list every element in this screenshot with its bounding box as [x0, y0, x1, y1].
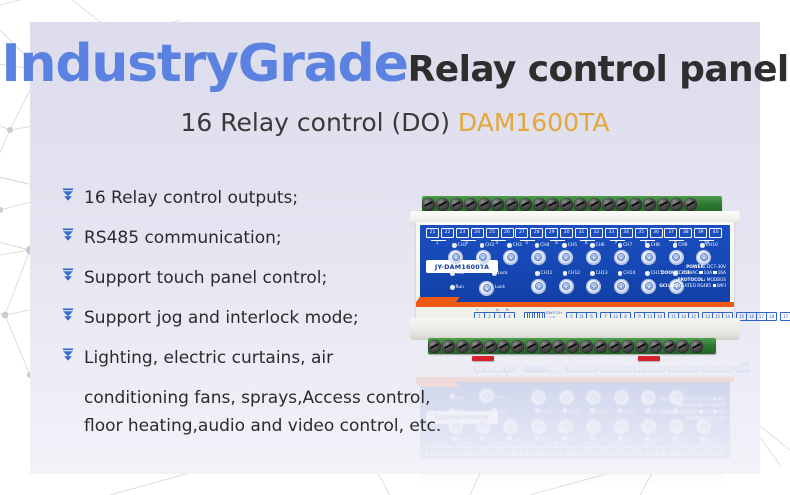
spec-text-block: POWER: DC7-30VDOOUT: 250VAC 10A 16APROTO…: [648, 265, 726, 290]
screw-terminal: [484, 340, 497, 353]
channel-button[interactable]: [560, 391, 573, 404]
product-image-relay-module: 2112223224253262742829530316323373435836…: [400, 192, 750, 352]
screw-terminal: [663, 340, 676, 353]
terminal-number: 26: [501, 228, 514, 238]
status-led-label: Lock: [498, 271, 508, 276]
channel-button[interactable]: [615, 391, 628, 404]
channel-led-label: CH13: [596, 408, 608, 413]
list-item-label: Support touch panel control;: [84, 264, 327, 292]
terminal-number: 24: [471, 446, 484, 456]
subtitle-prefix: 16 Relay control (DO): [181, 108, 458, 137]
channel-led: [700, 243, 705, 248]
channel-button[interactable]: [449, 251, 462, 264]
terminal-number: 36: [650, 446, 663, 456]
terminal-group-number: 4: [525, 439, 527, 444]
screw-terminal: [560, 473, 573, 486]
terminal-number: 27: [515, 228, 528, 238]
terminal-group-number: 5: [555, 240, 557, 245]
screw-terminal: [478, 473, 491, 486]
screw-terminal: [621, 340, 634, 353]
screw-terminal: [608, 340, 621, 353]
terminal-number: 22: [441, 228, 454, 238]
terminal-group-number: 4: [525, 240, 527, 245]
channel-button[interactable]: [697, 251, 710, 264]
terminal-number: 25: [486, 446, 499, 456]
screw-terminal: [511, 340, 524, 353]
bottom-terminal-mark: +: [476, 372, 478, 377]
list-item-continuation: floor heating,audio and video control, e…: [84, 412, 442, 440]
channel-led-label: CH3: [513, 243, 522, 248]
screw-terminal: [588, 473, 601, 486]
channel-led: [452, 243, 457, 248]
spec-line: POWER: DC7-30V: [648, 413, 726, 419]
channel-button[interactable]: [587, 391, 600, 404]
status-led-label: Run: [456, 394, 464, 399]
channel-led-label: CH14: [623, 408, 635, 413]
terminal-number: 37: [664, 228, 677, 238]
subtitle-model: DAM1600TA: [458, 108, 610, 137]
terminal-number: 36: [650, 228, 663, 238]
screw-terminal: [519, 473, 532, 486]
terminal-group-bracket: [461, 443, 476, 444]
screw-terminal: [539, 340, 552, 353]
terminal-number: 30: [560, 446, 573, 456]
screw-terminal: [602, 473, 615, 486]
channel-led: [700, 436, 705, 441]
list-item-label: RS485 communication;: [84, 224, 282, 252]
bottom-terminal-mark: -: [486, 307, 487, 312]
din-rail-clip: [472, 356, 494, 361]
screw-terminal: [546, 198, 559, 211]
terminal-group-bracket: [610, 443, 625, 444]
terminal-number: 21: [426, 446, 439, 456]
terminal-number: 38: [679, 446, 692, 456]
status-led: [450, 408, 455, 413]
bottom-terminal-mark: -: [486, 372, 487, 377]
channel-led: [590, 408, 595, 413]
screw-terminal: [519, 198, 532, 211]
channel-button[interactable]: [642, 420, 655, 433]
bottom-terminal-strip: [428, 338, 716, 354]
screw-terminal: [629, 198, 642, 211]
channel-led-label: CH11: [541, 408, 553, 413]
screw-terminal: [560, 198, 573, 211]
screw-terminal: [684, 198, 697, 211]
channel-led-label: CH13: [596, 271, 608, 276]
terminal-group-number: 3: [496, 240, 498, 245]
terminal-group-number: 7: [615, 240, 617, 245]
status-led-label: Pow: [456, 408, 465, 413]
chevron-down-icon: [62, 227, 84, 249]
channel-led-label: CH4: [540, 243, 549, 248]
status-led: [450, 285, 455, 290]
channel-button[interactable]: [532, 251, 545, 264]
screw-terminal: [450, 473, 463, 486]
terminal-number: 40: [709, 228, 722, 238]
screw-terminal: [643, 198, 656, 211]
screw-terminal: [594, 340, 607, 353]
screw-terminal: [470, 340, 483, 353]
channel-led: [673, 243, 678, 248]
channel-button[interactable]: [559, 420, 572, 433]
channel-led: [563, 408, 568, 413]
screw-terminal: [657, 473, 670, 486]
channel-led-label: CH6: [596, 243, 605, 248]
bottom-terminal-number: 17: [780, 312, 790, 321]
list-item-label: Lighting, electric curtains, air: [84, 344, 333, 372]
screw-terminal: [635, 340, 648, 353]
list-item: 16 Relay control outputs;: [62, 184, 442, 212]
channel-button[interactable]: [642, 251, 655, 264]
status-led-label: Lock: [495, 394, 505, 399]
list-item: Lighting, electric curtains, air: [62, 344, 442, 372]
terminal-number: 31: [575, 446, 588, 456]
screw-terminal: [505, 198, 518, 211]
channel-button[interactable]: [560, 280, 573, 293]
list-item: Support touch panel control;: [62, 264, 442, 292]
bottom-terminal-mark: A: [496, 307, 499, 312]
terminal-number: 40: [709, 446, 722, 456]
bottom-terminal-mark: B: [506, 307, 509, 312]
screw-terminal: [566, 340, 579, 353]
top-terminal-strip: [422, 471, 722, 488]
channel-button[interactable]: [559, 251, 572, 264]
channel-led: [618, 243, 623, 248]
channel-led-label: CH10: [706, 243, 718, 248]
spec-line: GCI: ISOLATED RS485 WIFI: [648, 394, 726, 400]
chevron-down-icon: [62, 347, 84, 369]
bottom-terminal-mark: +: [476, 307, 478, 312]
title-rest: Relay control panel: [408, 49, 789, 90]
bottom-terminal-mark: B: [506, 372, 509, 377]
orange-accent-bar: [416, 302, 734, 307]
screw-terminal: [615, 198, 628, 211]
terminal-number: 30: [560, 228, 573, 238]
channel-led: [452, 436, 457, 441]
terminal-number: 27: [515, 446, 528, 456]
terminal-group-number: 3: [496, 439, 498, 444]
screw-terminal: [533, 473, 546, 486]
terminal-group-bracket: [580, 443, 595, 444]
terminal-number: 35: [635, 446, 648, 456]
lock-button[interactable]: [480, 389, 493, 402]
page-subtitle: 16 Relay control (DO) DAM1600TA: [0, 108, 790, 137]
status-led: [492, 408, 497, 413]
terminal-number: 23: [456, 228, 469, 238]
screw-terminal: [643, 473, 656, 486]
channel-button[interactable]: [532, 391, 545, 404]
channel-button[interactable]: [697, 420, 710, 433]
terminal-number: 28: [530, 228, 543, 238]
channel-button[interactable]: [587, 280, 600, 293]
screw-terminal: [602, 198, 615, 211]
channel-led: [590, 271, 595, 276]
channel-led: [645, 436, 650, 441]
product-image-reflection: 2112223224253262742829530316323373435836…: [400, 352, 750, 492]
channel-led-label: CH9: [678, 436, 687, 441]
channel-led-label: CH7: [623, 436, 632, 441]
screw-terminal: [657, 198, 670, 211]
list-item-label: Support jog and interlock mode;: [84, 304, 359, 332]
terminal-group-number: 5: [555, 439, 557, 444]
channel-led: [590, 436, 595, 441]
channel-led: [535, 271, 540, 276]
terminal-group-number: 6: [585, 439, 587, 444]
screw-terminal: [505, 473, 518, 486]
spec-line: GCI: ISOLATED RS485 WIFI: [648, 284, 726, 290]
screw-terminal: [649, 340, 662, 353]
status-led-label: Pow: [456, 271, 465, 276]
channel-led: [507, 436, 512, 441]
channel-button[interactable]: [449, 420, 462, 433]
channel-led-label: CH12: [568, 271, 580, 276]
channel-button[interactable]: [587, 420, 600, 433]
terminal-number: 32: [590, 228, 603, 238]
channel-led-label: CH1: [458, 243, 467, 248]
channel-led-label: CH10: [706, 436, 718, 441]
terminal-number: 24: [471, 228, 484, 238]
channel-button[interactable]: [615, 420, 628, 433]
terminal-number: 38: [679, 228, 692, 238]
channel-led-label: CH2: [485, 243, 494, 248]
screw-terminal: [684, 473, 697, 486]
terminal-number: 35: [635, 228, 648, 238]
channel-led-label: CH8: [651, 436, 660, 441]
status-led-label: Lock: [495, 285, 505, 290]
channel-led: [590, 243, 595, 248]
terminal-number-row: 2112223224253262742829530316323373435836…: [426, 440, 724, 456]
channel-led: [562, 243, 567, 248]
list-item-continuation: conditioning fans, sprays,Access control…: [84, 384, 442, 412]
screw-terminal: [533, 198, 546, 211]
channel-led-label: CH6: [596, 436, 605, 441]
status-led-label: Lock: [498, 408, 508, 413]
channel-led-label: CH7: [623, 243, 632, 248]
channel-button[interactable]: [504, 420, 517, 433]
status-led: [450, 394, 455, 399]
terminal-number: 34: [620, 446, 633, 456]
terminal-group-bracket: [431, 443, 446, 444]
device-blue-panel: 2112223224253262742829530316323373435836…: [420, 225, 730, 302]
status-led: [450, 271, 455, 276]
chevron-down-icon: [62, 307, 84, 329]
channel-led: [535, 408, 540, 413]
terminal-group-bracket: [640, 240, 655, 241]
screw-terminal: [442, 340, 455, 353]
spec-text-block: POWER: DC7-30VDOOUT: 250VAC 10A 16APROTO…: [648, 394, 726, 419]
channel-led: [618, 408, 623, 413]
channel-led-label: CH2: [485, 436, 494, 441]
channel-led-label: CH8: [651, 243, 660, 248]
channel-button[interactable]: [670, 251, 683, 264]
terminal-group-number: 7: [615, 439, 617, 444]
channel-led-label: CH12: [568, 408, 580, 413]
screw-terminal: [450, 198, 463, 211]
terminal-number: 34: [620, 228, 633, 238]
channel-button[interactable]: [504, 251, 517, 264]
channel-led: [480, 436, 485, 441]
screw-terminal: [690, 340, 703, 353]
screw-terminal: [574, 473, 587, 486]
poster-stage: IndustryGradeRelay control panel 16 Rela…: [0, 0, 790, 495]
channel-button[interactable]: [670, 420, 683, 433]
terminal-number: 31: [575, 228, 588, 238]
screw-terminal: [464, 473, 477, 486]
terminal-number: 29: [545, 446, 558, 456]
channel-button[interactable]: [615, 280, 628, 293]
terminal-number: 22: [441, 446, 454, 456]
screw-terminal: [670, 198, 683, 211]
channel-led-label: CH3: [513, 436, 522, 441]
din-rail-clip: [638, 356, 660, 361]
screw-terminal: [491, 473, 504, 486]
channel-button[interactable]: [587, 251, 600, 264]
channel-led: [562, 436, 567, 441]
channel-button[interactable]: [477, 420, 490, 433]
channel-button[interactable]: [477, 251, 490, 264]
screw-terminal: [676, 340, 689, 353]
lock-button[interactable]: [480, 282, 493, 295]
bottom-terminal-number: 18: [766, 312, 777, 321]
screw-terminal: [615, 473, 628, 486]
screw-terminal: [456, 340, 469, 353]
bottom-terminal-mark: A: [496, 372, 499, 377]
feature-list: 16 Relay control outputs; RS485 communic…: [62, 184, 442, 440]
terminal-number: 33: [605, 228, 618, 238]
terminal-number: 28: [530, 446, 543, 456]
terminal-number: 37: [664, 446, 677, 456]
channel-led: [480, 243, 485, 248]
screw-terminal: [497, 340, 510, 353]
screw-terminal: [478, 198, 491, 211]
terminal-number: 23: [456, 446, 469, 456]
terminal-number: 39: [694, 228, 707, 238]
channel-led: [507, 243, 512, 248]
channel-button[interactable]: [532, 420, 545, 433]
terminal-number: 25: [486, 228, 499, 238]
channel-button[interactable]: [532, 280, 545, 293]
spec-line: PROTOCOL: MODBUS: [648, 400, 726, 406]
terminal-number: 39: [694, 446, 707, 456]
list-item: RS485 communication;: [62, 224, 442, 252]
screw-terminal: [588, 198, 601, 211]
list-item: Support jog and interlock mode;: [62, 304, 442, 332]
screw-terminal: [525, 340, 538, 353]
channel-led: [563, 271, 568, 276]
channel-led-label: CH1: [458, 436, 467, 441]
title-brand: IndustryGrade: [1, 34, 407, 94]
terminal-number: 33: [605, 446, 618, 456]
screw-terminal: [546, 473, 559, 486]
terminal-group-bracket: [610, 240, 625, 241]
dip-switch-label: SWITCH: [546, 369, 562, 374]
spec-line: DOOUT: 250VAC 10A 16A: [648, 407, 726, 413]
terminal-number-row: 2112223224253262742829530316323373435836…: [426, 228, 724, 244]
channel-led-label: CH4: [540, 436, 549, 441]
status-led: [492, 271, 497, 276]
list-item-label: 16 Relay control outputs;: [84, 184, 298, 212]
channel-led: [535, 243, 540, 248]
terminal-group-number: 6: [585, 240, 587, 245]
screw-terminal: [436, 473, 449, 486]
chevron-down-icon: [62, 267, 84, 289]
channel-led: [618, 436, 623, 441]
screw-terminal: [464, 198, 477, 211]
channel-led-label: CH14: [623, 271, 635, 276]
status-led-label: Run: [456, 285, 464, 290]
orange-accent-bar: [416, 377, 734, 382]
screw-terminal: [422, 473, 435, 486]
device-shell-bottom: [410, 318, 740, 340]
terminal-group-bracket: [491, 443, 506, 444]
terminal-group-bracket: [461, 240, 476, 241]
terminal-number: 32: [590, 446, 603, 456]
screw-terminal: [552, 340, 565, 353]
terminal-number: 26: [501, 446, 514, 456]
channel-led-label: CH11: [541, 271, 553, 276]
chevron-down-icon: [62, 187, 84, 209]
terminal-number: 29: [545, 228, 558, 238]
channel-led: [618, 271, 623, 276]
screw-terminal: [670, 473, 683, 486]
terminal-group-bracket: [640, 443, 655, 444]
channel-led-label: CH9: [678, 243, 687, 248]
screw-terminal: [491, 198, 504, 211]
channel-led-label: CH5: [568, 243, 577, 248]
device-blue-panel: 2112223224253262742829530316323373435836…: [420, 382, 730, 459]
channel-led: [645, 243, 650, 248]
screw-terminal: [580, 340, 593, 353]
page-title: IndustryGradeRelay control panel: [0, 34, 790, 94]
screw-terminal: [574, 198, 587, 211]
channel-button[interactable]: [615, 251, 628, 264]
screw-terminal: [629, 473, 642, 486]
channel-led-label: CH5: [568, 436, 577, 441]
terminal-group-bracket: [580, 240, 595, 241]
terminal-group-bracket: [491, 240, 506, 241]
